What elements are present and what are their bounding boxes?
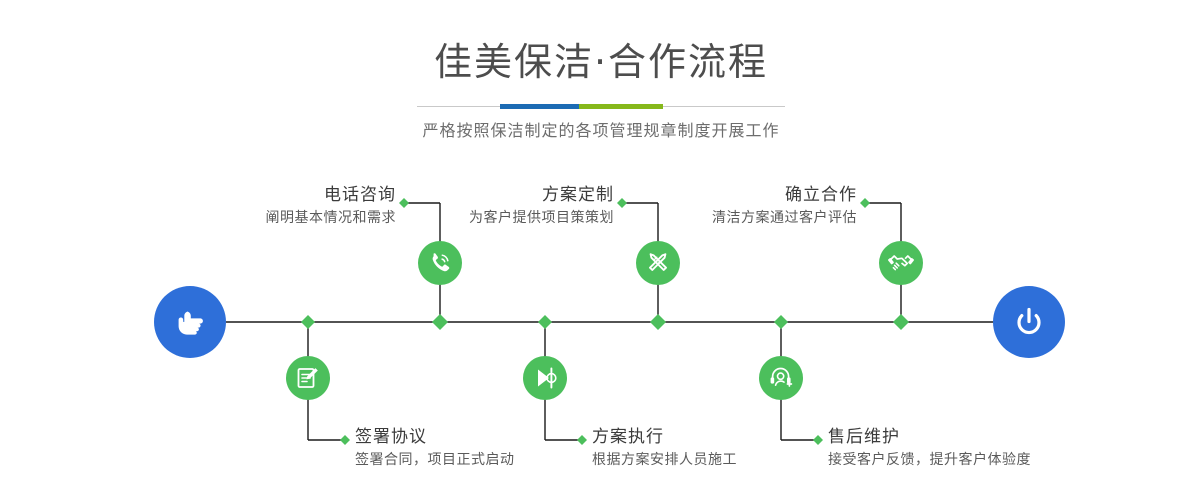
step-label-4-title: 方案执行 — [592, 425, 737, 449]
step-label-3: 方案定制 为客户提供项目策策划 — [469, 183, 614, 229]
step-label-6-title: 售后维护 — [828, 425, 1031, 449]
step-label-4-desc: 根据方案安排人员施工 — [592, 449, 737, 471]
document-sign-icon — [295, 365, 321, 391]
handshake-icon — [888, 250, 914, 276]
process-flow-diagram: 电话咨询 阐明基本情况和需求 方案定制 为客户提供项目策策划 确立合作 清洁方案… — [0, 0, 1202, 502]
pencil-ruler-icon — [645, 250, 671, 276]
step-label-1-title: 电话咨询 — [266, 183, 397, 207]
marker-step-2-label-diamond — [340, 435, 350, 445]
step-label-6-desc: 接受客户反馈，提升客户体验度 — [828, 449, 1031, 471]
step-label-5-title: 确立合作 — [712, 183, 857, 207]
marker-step-4-label-diamond — [577, 435, 587, 445]
flow-start-endpoint[interactable] — [154, 286, 226, 358]
step-node-1[interactable] — [418, 241, 462, 285]
step-node-5[interactable] — [879, 241, 923, 285]
phone-call-icon — [427, 250, 453, 276]
step-label-2-title: 签署协议 — [355, 425, 515, 449]
marker-step-4-axis-diamond — [538, 315, 552, 329]
step-label-5-desc: 清洁方案通过客户评估 — [712, 207, 857, 229]
step-label-4: 方案执行 根据方案安排人员施工 — [592, 425, 737, 471]
step-label-1-desc: 阐明基本情况和需求 — [266, 207, 397, 229]
flow-end-endpoint[interactable] — [993, 286, 1065, 358]
step-label-2: 签署协议 签署合同，项目正式启动 — [355, 425, 515, 471]
marker-step-6-axis-diamond — [774, 315, 788, 329]
marker-step-3-axis-diamond — [650, 314, 666, 330]
marker-step-1-axis-diamond — [432, 314, 448, 330]
marker-step-6-label-diamond — [813, 435, 823, 445]
step-node-3[interactable] — [636, 241, 680, 285]
marker-step-2-axis-diamond — [301, 315, 315, 329]
marker-step-3-label-diamond — [617, 198, 627, 208]
pointing-hand-icon — [170, 302, 210, 342]
customer-service-icon — [768, 365, 794, 391]
step-label-3-title: 方案定制 — [469, 183, 614, 207]
marker-step-1-label-diamond — [399, 198, 409, 208]
play-execute-icon — [532, 365, 558, 391]
power-icon — [1009, 302, 1049, 342]
step-label-5: 确立合作 清洁方案通过客户评估 — [712, 183, 857, 229]
marker-step-5-axis-diamond — [893, 314, 909, 330]
step-node-2[interactable] — [286, 356, 330, 400]
step-label-2-desc: 签署合同，项目正式启动 — [355, 449, 515, 471]
step-label-1: 电话咨询 阐明基本情况和需求 — [266, 183, 397, 229]
step-label-3-desc: 为客户提供项目策策划 — [469, 207, 614, 229]
step-node-4[interactable] — [523, 356, 567, 400]
step-label-6: 售后维护 接受客户反馈，提升客户体验度 — [828, 425, 1031, 471]
marker-step-5-label-diamond — [860, 198, 870, 208]
step-node-6[interactable] — [759, 356, 803, 400]
